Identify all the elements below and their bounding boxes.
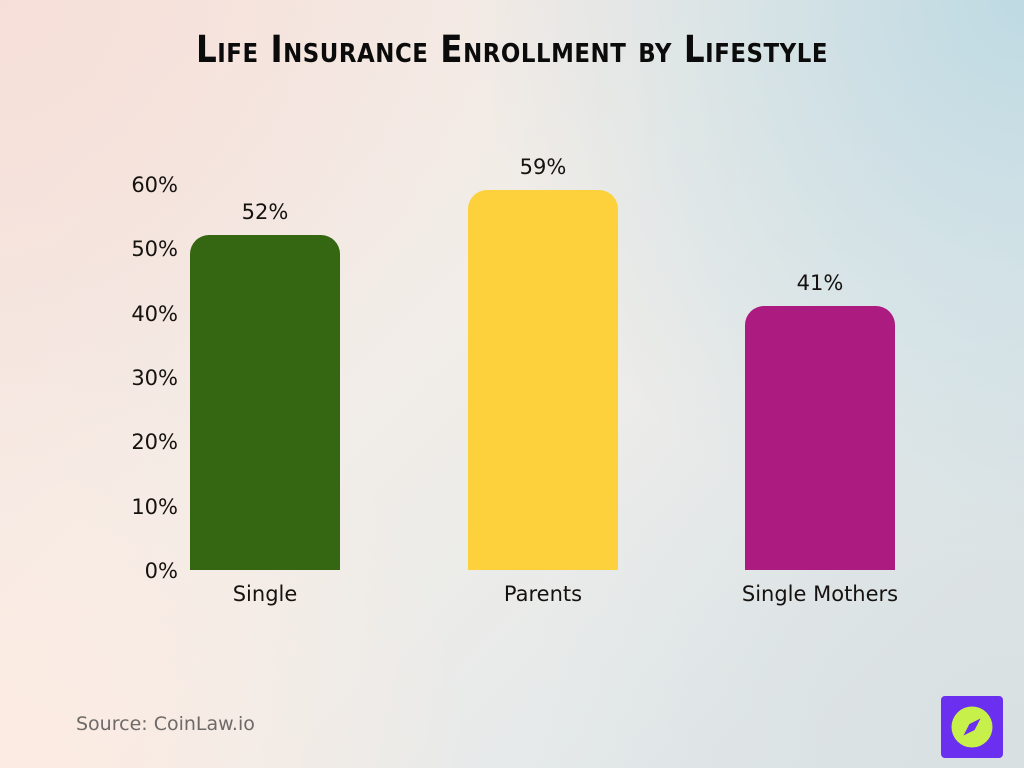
brand-logo[interactable]	[941, 696, 1003, 758]
x-axis-category-label: Single Mothers	[700, 582, 940, 606]
bar-value-label: 59%	[468, 155, 618, 179]
y-axis-tick-label: 0%	[108, 559, 178, 583]
x-axis-category-label: Parents	[423, 582, 663, 606]
bar-single-mothers[interactable]	[745, 306, 895, 570]
y-axis-tick-label: 10%	[108, 495, 178, 519]
chart-canvas: Life Insurance Enrollment by Lifestyle 6…	[0, 0, 1024, 768]
y-axis-tick-label: 20%	[108, 430, 178, 454]
y-axis-tick-label: 50%	[108, 237, 178, 261]
bar-single[interactable]	[190, 235, 340, 570]
y-axis-tick-label: 30%	[108, 366, 178, 390]
y-axis-tick-label: 40%	[108, 302, 178, 326]
bar-value-label: 41%	[745, 271, 895, 295]
x-axis-category-label: Single	[145, 582, 385, 606]
bar-value-label: 52%	[190, 200, 340, 224]
y-axis-tick-label: 60%	[108, 173, 178, 197]
bar-chart-plot-area: 60% 50% 40% 30% 20% 10% 0% 52% Single 59…	[0, 0, 1024, 768]
source-attribution: Source: CoinLaw.io	[76, 713, 255, 735]
y-axis: 60% 50% 40% 30% 20% 10% 0%	[108, 0, 178, 768]
compass-icon	[941, 696, 1003, 758]
bar-parents[interactable]	[468, 190, 618, 570]
